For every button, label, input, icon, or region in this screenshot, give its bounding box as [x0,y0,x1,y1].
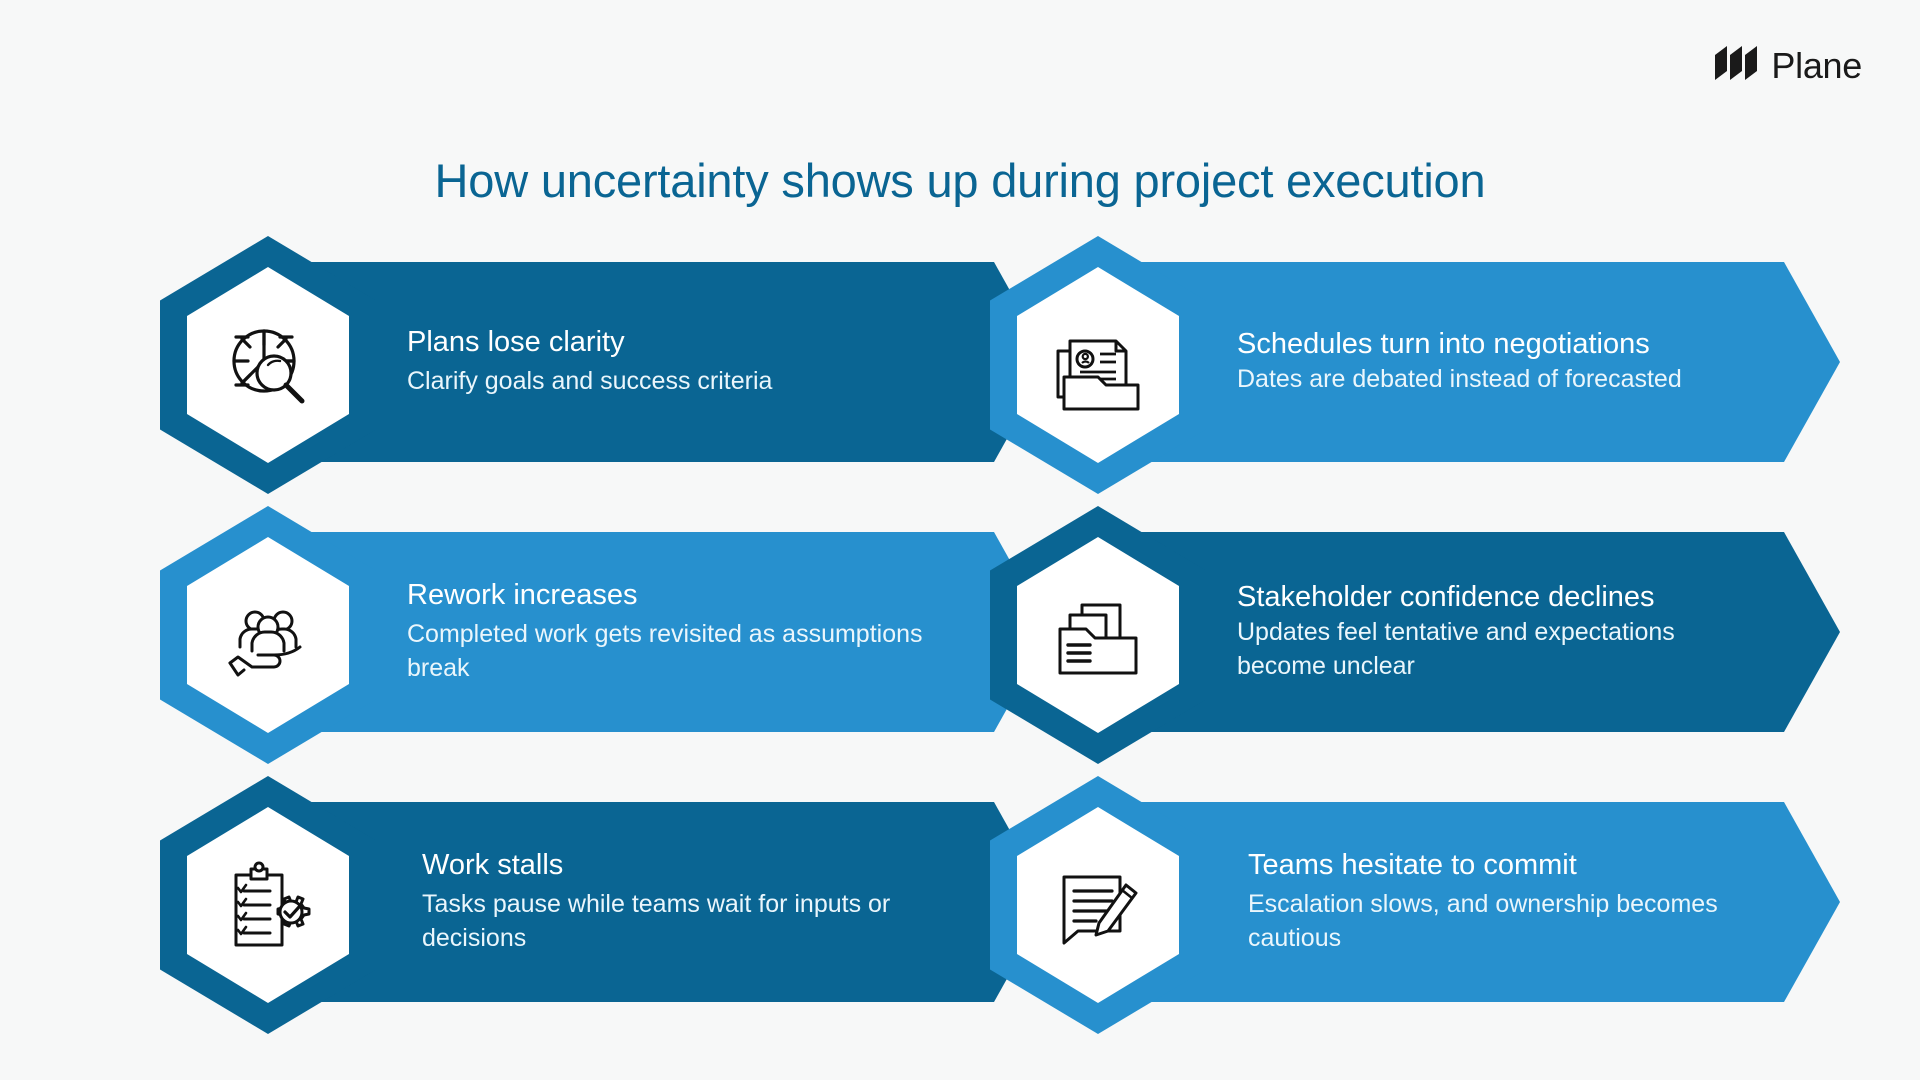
card-hex-inner [187,267,349,463]
document-pencil-icon [1048,855,1148,955]
card-hex-inner [187,807,349,1003]
card-description: Updates feel tentative and expectations … [1237,616,1747,683]
page-title: How uncertainty shows up during project … [0,153,1920,208]
folder-id-document-icon [1048,315,1148,415]
card-title: Work stalls [422,849,962,882]
brand-name: Plane [1771,48,1862,84]
card-description: Dates are debated instead of forecasted [1237,363,1747,396]
card-hex-inner [1017,807,1179,1003]
card-title: Rework increases [407,579,947,612]
card-text: Work stalls Tasks pause while teams wait… [422,802,962,1002]
folder-documents-icon [1048,585,1148,685]
card-text: Rework increases Completed work gets rev… [407,532,947,732]
card-hex-inner [1017,267,1179,463]
plane-logo-icon [1715,46,1759,85]
card-grid: Plans lose clarity Clarify goals and suc… [160,236,1780,1046]
card-title: Schedules turn into negotiations [1237,328,1747,361]
hand-holding-people-icon [218,585,318,685]
pie-chart-magnifier-icon [218,315,318,415]
card-hex-inner [1017,537,1179,733]
card-title: Stakeholder confidence declines [1237,581,1747,614]
brand-logo: Plane [1715,46,1862,85]
clipboard-checklist-gear-icon [218,855,318,955]
card-stakeholder-confidence-declines[interactable]: Stakeholder confidence declines Updates … [990,506,1780,764]
card-text: Schedules turn into negotiations Dates a… [1237,262,1747,462]
card-title: Teams hesitate to commit [1248,849,1758,882]
card-hex-inner [187,537,349,733]
card-description: Tasks pause while teams wait for inputs … [422,888,962,955]
card-description: Clarify goals and success criteria [407,365,947,398]
card-title: Plans lose clarity [407,326,947,359]
card-rework-increases[interactable]: Rework increases Completed work gets rev… [160,506,990,764]
card-teams-hesitate-to-commit[interactable]: Teams hesitate to commit Escalation slow… [990,776,1780,1034]
card-text: Teams hesitate to commit Escalation slow… [1248,802,1758,1002]
card-work-stalls[interactable]: Work stalls Tasks pause while teams wait… [160,776,990,1034]
card-text: Plans lose clarity Clarify goals and suc… [407,262,947,462]
card-text: Stakeholder confidence declines Updates … [1237,532,1747,732]
card-plans-lose-clarity[interactable]: Plans lose clarity Clarify goals and suc… [160,236,990,494]
card-schedules-turn-into-negotiations[interactable]: Schedules turn into negotiations Dates a… [990,236,1780,494]
card-description: Escalation slows, and ownership becomes … [1248,888,1758,955]
card-description: Completed work gets revisited as assumpt… [407,618,947,685]
